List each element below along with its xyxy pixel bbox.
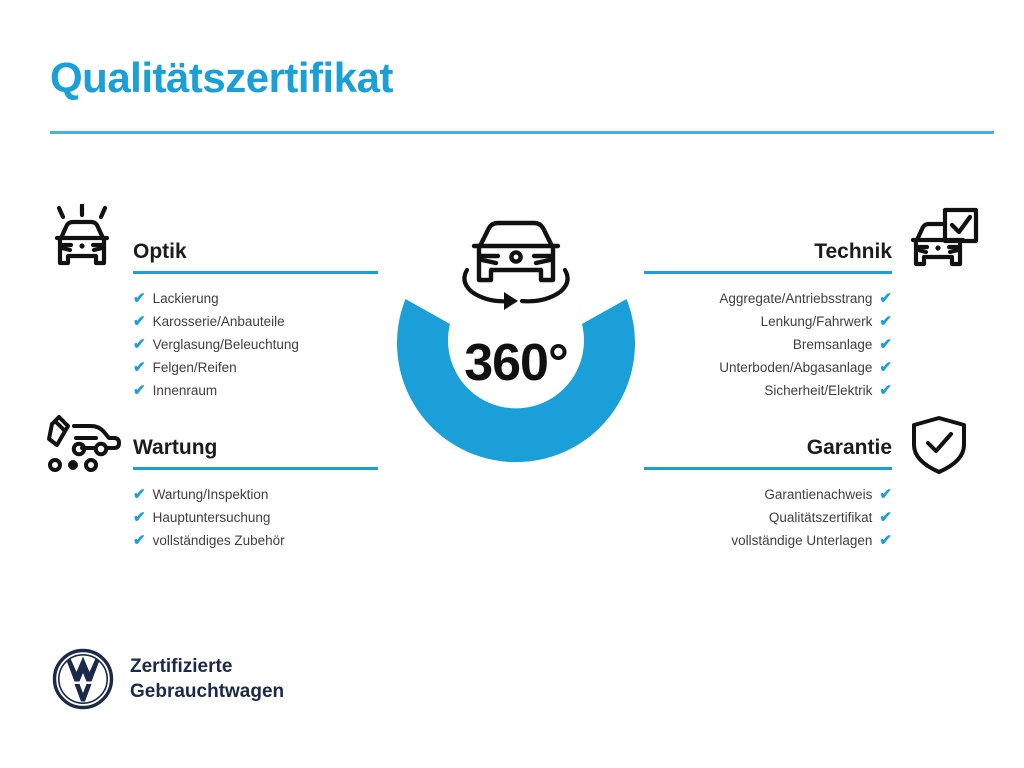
section-optik: Optik ✔Lackierung ✔Karosserie/Anbauteile… (133, 238, 378, 402)
list-item-label: Bremsanlage (793, 333, 873, 356)
section-garantie-list: Garantienachweis✔ Qualitätszertifikat✔ v… (644, 483, 892, 552)
list-item-label: Hauptuntersuchung (153, 506, 271, 529)
list-item-label: Innenraum (153, 379, 218, 402)
check-icon: ✔ (879, 310, 892, 333)
section-wartung-title: Wartung (133, 434, 378, 462)
section-technik-underline (644, 271, 892, 274)
list-item: Lenkung/Fahrwerk✔ (644, 310, 892, 333)
list-item-label: Unterboden/Abgasanlage (719, 356, 872, 379)
page-title: Qualitätszertifikat (50, 54, 393, 102)
check-icon: ✔ (133, 506, 146, 529)
list-item: Bremsanlage✔ (644, 333, 892, 356)
car-checkbox-icon (906, 204, 980, 275)
list-item: ✔vollständiges Zubehör (133, 529, 378, 552)
check-icon: ✔ (133, 529, 146, 552)
section-technik-title: Technik (644, 238, 892, 266)
list-item-label: Qualitätszertifikat (769, 506, 873, 529)
section-optik-title: Optik (133, 238, 378, 266)
section-technik: Technik Aggregate/Antriebsstrang✔ Lenkun… (644, 238, 892, 402)
section-optik-underline (133, 271, 378, 274)
arrow-head (504, 292, 518, 310)
section-wartung-header: Wartung (133, 434, 378, 470)
check-icon: ✔ (133, 310, 146, 333)
list-item: ✔Verglasung/Beleuchtung (133, 333, 378, 356)
shield-check-icon (908, 414, 970, 481)
360-check-badge: Gebrauchtwagen-Check 360° (368, 196, 664, 496)
oil-dipstick-car-icon (46, 414, 124, 479)
list-item: ✔Felgen/Reifen (133, 356, 378, 379)
section-garantie-header: Garantie (644, 434, 892, 470)
vw-logo-text: Zertifizierte Gebrauchtwagen (130, 654, 284, 704)
list-item-label: vollständiges Zubehör (153, 529, 285, 552)
list-item-label: Felgen/Reifen (153, 356, 237, 379)
list-item-label: Aggregate/Antriebsstrang (719, 287, 872, 310)
vw-logo-line1: Zertifizierte (130, 654, 284, 679)
list-item-label: Verglasung/Beleuchtung (153, 333, 299, 356)
check-icon: ✔ (879, 483, 892, 506)
check-icon: ✔ (133, 379, 146, 402)
car-rotate-icon (464, 223, 567, 310)
section-wartung-list: ✔Wartung/Inspektion ✔Hauptuntersuchung ✔… (133, 483, 378, 552)
check-icon: ✔ (879, 529, 892, 552)
check-icon: ✔ (879, 506, 892, 529)
check-icon: ✔ (133, 333, 146, 356)
list-item-label: vollständige Unterlagen (731, 529, 872, 552)
list-item: Garantienachweis✔ (644, 483, 892, 506)
list-item: ✔Wartung/Inspektion (133, 483, 378, 506)
list-item: Qualitätszertifikat✔ (644, 506, 892, 529)
car-shine-icon (46, 204, 120, 275)
section-technik-header: Technik (644, 238, 892, 274)
list-item-label: Sicherheit/Elektrik (764, 379, 872, 402)
check-icon: ✔ (879, 287, 892, 310)
badge-center-label: 360° (368, 333, 664, 393)
check-icon: ✔ (879, 356, 892, 379)
list-item: Unterboden/Abgasanlage✔ (644, 356, 892, 379)
section-wartung-underline (133, 467, 378, 470)
check-icon: ✔ (133, 356, 146, 379)
list-item: ✔Innenraum (133, 379, 378, 402)
title-divider (50, 131, 994, 134)
list-item-label: Lenkung/Fahrwerk (761, 310, 873, 333)
vw-certified-logo: Zertifizierte Gebrauchtwagen (52, 648, 284, 710)
list-item-label: Karosserie/Anbauteile (153, 310, 285, 333)
section-technik-list: Aggregate/Antriebsstrang✔ Lenkung/Fahrwe… (644, 287, 892, 402)
section-garantie-title: Garantie (644, 434, 892, 462)
list-item: ✔Karosserie/Anbauteile (133, 310, 378, 333)
list-item-label: Lackierung (153, 287, 219, 310)
list-item-label: Wartung/Inspektion (153, 483, 269, 506)
list-item: ✔Lackierung (133, 287, 378, 310)
check-icon: ✔ (879, 333, 892, 356)
section-garantie: Garantie Garantienachweis✔ Qualitätszert… (644, 434, 892, 552)
section-optik-header: Optik (133, 238, 378, 274)
check-icon: ✔ (133, 483, 146, 506)
list-item: Aggregate/Antriebsstrang✔ (644, 287, 892, 310)
vw-logo-line2: Gebrauchtwagen (130, 679, 284, 704)
check-icon: ✔ (133, 287, 146, 310)
section-wartung: Wartung ✔Wartung/Inspektion ✔Hauptunters… (133, 434, 378, 552)
section-optik-list: ✔Lackierung ✔Karosserie/Anbauteile ✔Verg… (133, 287, 378, 402)
list-item: ✔Hauptuntersuchung (133, 506, 378, 529)
check-icon: ✔ (879, 379, 892, 402)
vw-logo (52, 648, 114, 710)
list-item: Sicherheit/Elektrik✔ (644, 379, 892, 402)
list-item: vollständige Unterlagen✔ (644, 529, 892, 552)
list-item-label: Garantienachweis (764, 483, 872, 506)
section-garantie-underline (644, 467, 892, 470)
